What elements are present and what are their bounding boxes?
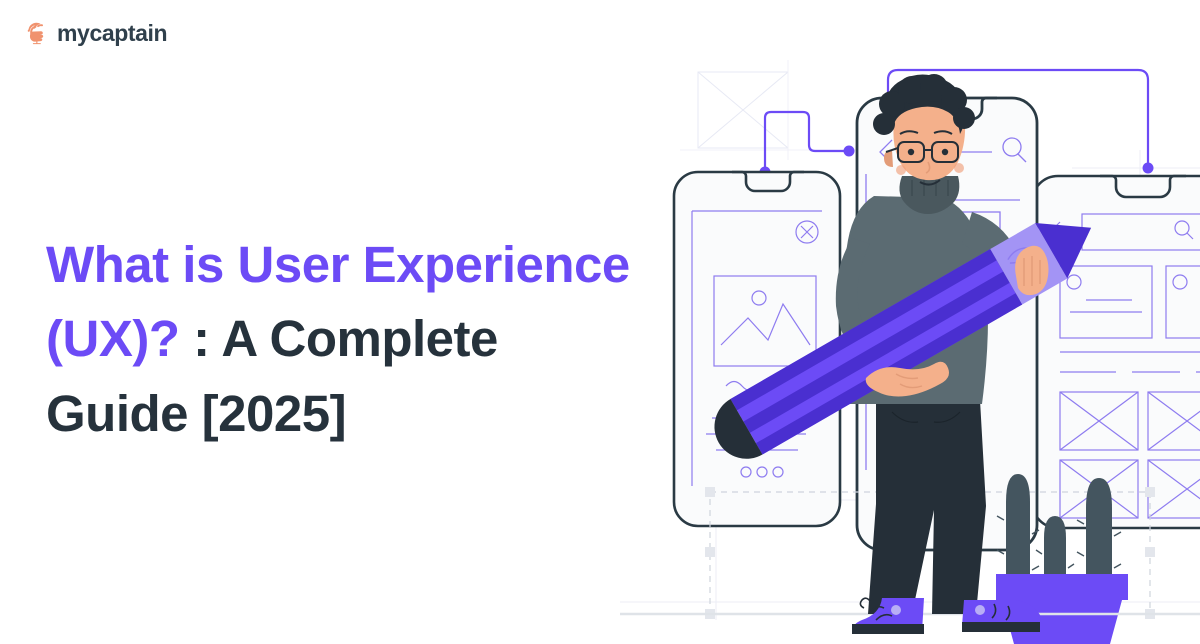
connector-dot	[844, 146, 855, 157]
title-line-2-dark: : A Complete	[179, 310, 497, 367]
hero-banner: mycaptain What is User Experience (UX)? …	[0, 0, 1200, 644]
cactus-pot-rim	[996, 574, 1128, 600]
connector-line-left	[765, 112, 847, 170]
connector-dot	[1143, 163, 1154, 174]
title-line-1: What is User Experience	[46, 236, 630, 293]
character-pants	[868, 400, 986, 614]
brand-wordmark: mycaptain	[57, 22, 167, 45]
title-line-3: Guide [2025]	[46, 385, 346, 442]
title-line-2-accent: (UX)?	[46, 310, 179, 367]
captain-hand-icon	[24, 20, 50, 46]
ghost-image-placeholder	[698, 72, 788, 148]
brand-logo[interactable]: mycaptain	[24, 16, 167, 50]
phone-left	[674, 172, 840, 526]
hero-illustration	[620, 0, 1200, 644]
page-title: What is User Experience (UX)? : A Comple…	[46, 228, 686, 451]
character-right-hand	[1015, 246, 1048, 295]
